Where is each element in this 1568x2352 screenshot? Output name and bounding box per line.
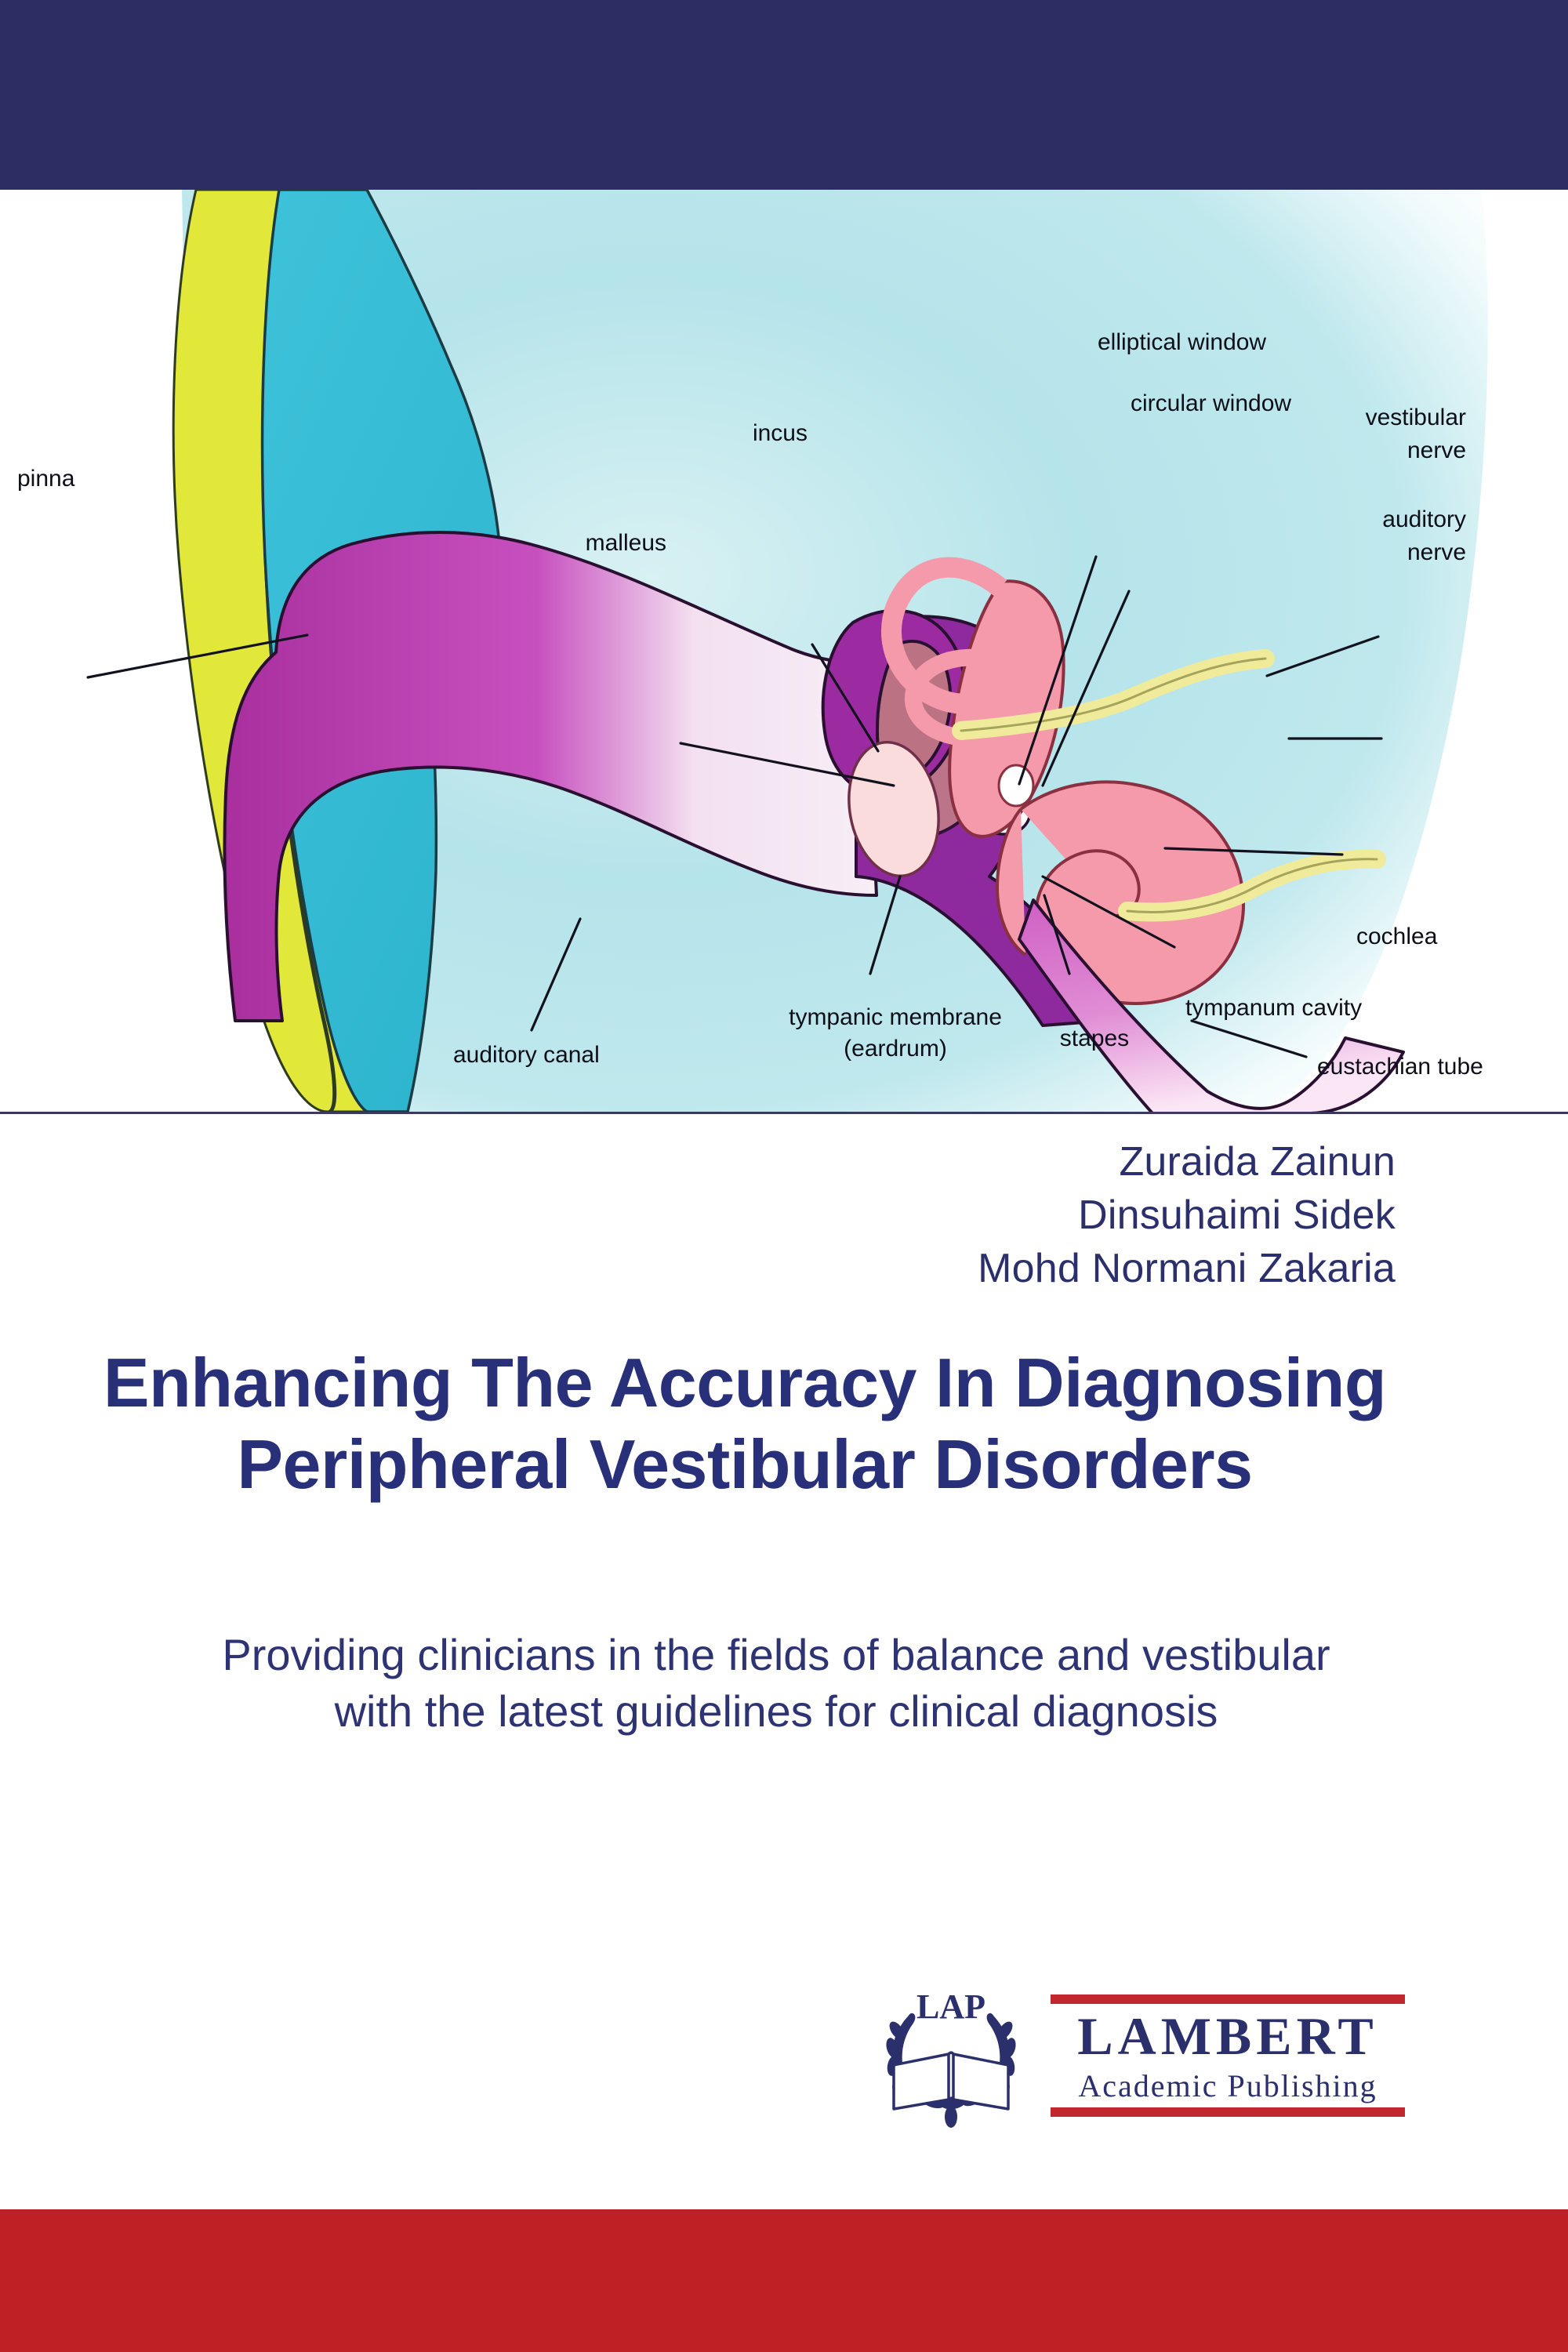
publisher-tagline: Academic Publishing xyxy=(1078,2068,1377,2103)
ear-anatomy-illustration: pinna incus malleus elliptical window ci… xyxy=(0,190,1568,1113)
lap-monogram: LAP xyxy=(916,1987,985,2026)
author-name: Zuraida Zainun xyxy=(0,1135,1396,1189)
label-auditory-nerve: auditory xyxy=(1382,506,1466,532)
label-cochlea: cochlea xyxy=(1356,924,1438,949)
publisher-name: LAMBERT xyxy=(1077,2006,1377,2066)
bottom-color-band xyxy=(0,2209,1568,2352)
author-name: Mohd Normani Zakaria xyxy=(0,1242,1396,1295)
label-elliptical-window: elliptical window xyxy=(1098,329,1266,355)
label-tympanic-membrane-2: (eardrum) xyxy=(844,1036,947,1062)
circular-window-shape xyxy=(999,765,1033,806)
label-malleus: malleus xyxy=(586,530,666,556)
logo-rule-bottom xyxy=(1051,2107,1405,2117)
label-eustachian-tube: eustachian tube xyxy=(1317,1054,1483,1080)
label-vestibular-nerve: vestibular xyxy=(1366,405,1466,430)
book-title: Enhancing The Accuracy In Diagnosing Per… xyxy=(94,1342,1396,1505)
label-vestibular-nerve-2: nerve xyxy=(1407,437,1466,463)
label-pinna: pinna xyxy=(17,466,75,492)
author-name: Dinsuhaimi Sidek xyxy=(0,1189,1396,1242)
label-tympanic-membrane: tympanic membrane xyxy=(789,1004,1002,1030)
label-auditory-nerve-2: nerve xyxy=(1407,539,1466,565)
book-subtitle: Providing clinicians in the fields of ba… xyxy=(180,1627,1372,1740)
label-tympanum-cavity: tympanum cavity xyxy=(1185,995,1362,1021)
illustration-separator-rule xyxy=(0,1112,1568,1114)
author-list: Zuraida Zainun Dinsuhaimi Sidek Mohd Nor… xyxy=(0,1135,1396,1295)
label-incus: incus xyxy=(753,420,808,446)
label-stapes: stapes xyxy=(1060,1025,1129,1051)
publisher-logo: LAP LAMBERT Academic Publishing xyxy=(877,1982,1419,2131)
book-cover: pinna incus malleus elliptical window ci… xyxy=(0,0,1568,2352)
top-color-band xyxy=(0,0,1568,190)
label-circular-window: circular window xyxy=(1131,390,1291,416)
logo-rule-top xyxy=(1051,1994,1405,2004)
label-auditory-canal: auditory canal xyxy=(453,1042,600,1068)
